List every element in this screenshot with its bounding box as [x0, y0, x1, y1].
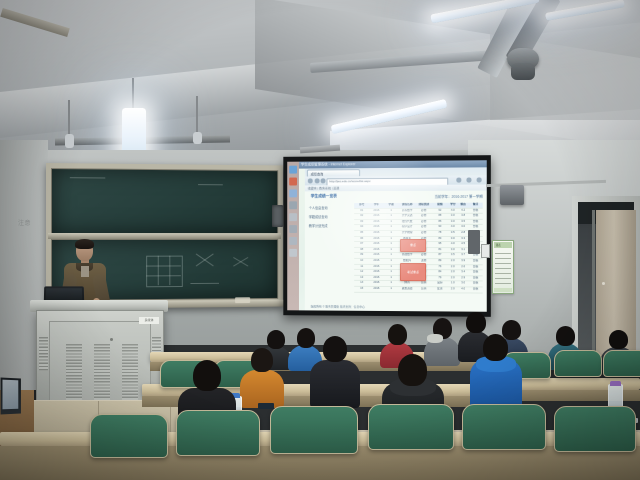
fan-motor — [511, 63, 535, 80]
table-cell: 4.5 — [458, 242, 468, 247]
dock-icon-settings[interactable] — [289, 201, 297, 209]
dock-icon-browser[interactable] — [289, 166, 297, 174]
column-header: 备注 — [468, 203, 482, 208]
student-torso — [310, 360, 360, 408]
poster-header: 课表 — [494, 242, 512, 248]
student-head — [251, 348, 273, 372]
student-head — [323, 336, 347, 362]
student-head — [193, 360, 221, 391]
student-hood — [427, 334, 443, 343]
table-cell: 3.5 — [458, 220, 468, 225]
projected-desktop: 学生成绩管理系统 - Internet Explorer 成绩查询 http:/… — [287, 160, 487, 312]
dock-icon-files[interactable] — [289, 213, 297, 221]
search-icon[interactable] — [456, 178, 461, 183]
side-monitor-screen — [2, 380, 18, 410]
table-cell: 合格 — [468, 282, 482, 287]
pendant-lamp-icon — [193, 132, 202, 144]
ceiling-fan — [415, 8, 630, 103]
pendant-rod — [68, 100, 70, 136]
chair[interactable] — [176, 410, 260, 456]
chair[interactable] — [90, 414, 168, 458]
column-header: 绩点 — [458, 203, 468, 208]
phone-on-desk[interactable] — [258, 403, 274, 409]
chair[interactable] — [368, 404, 454, 450]
student-head — [267, 330, 285, 349]
table-cell: 合格 — [468, 259, 482, 264]
pendant-lamp-right — [190, 96, 204, 146]
lectern-side-vent-left — [39, 337, 48, 371]
student-head — [398, 354, 427, 386]
taskbar-dock[interactable] — [287, 162, 299, 311]
dock-icon-misc[interactable] — [289, 249, 297, 257]
table-cell: 合格 — [468, 287, 482, 292]
pendant-lamp-icon — [65, 134, 74, 148]
dock-icon-media[interactable] — [289, 225, 297, 233]
projection-screen: 学生成绩管理系统 - Internet Explorer 成绩查询 http:/… — [283, 155, 491, 317]
table-cell: 3.9 — [458, 259, 468, 264]
screen-glare — [307, 160, 456, 291]
student-blue-hoodie-right — [470, 334, 522, 408]
student-orange-jacket — [240, 348, 284, 406]
table-cell: 2.6 — [458, 265, 468, 270]
pendant-rod — [196, 96, 198, 134]
table-cell: 4.0 — [458, 225, 468, 230]
door-knob-icon[interactable] — [602, 282, 605, 285]
laptop-screen — [46, 288, 82, 300]
light-switch-plate[interactable] — [481, 244, 490, 258]
wall-marking: 注意 — [18, 218, 31, 227]
side-monitor[interactable] — [1, 378, 21, 415]
chair[interactable] — [554, 406, 636, 452]
pendant-lamp-left — [62, 100, 76, 150]
blackboard-eraser[interactable] — [235, 297, 250, 303]
table-cell: 合格 — [468, 265, 482, 270]
student-head — [609, 330, 628, 349]
table-cell: 2.9 — [458, 276, 468, 281]
lecturer-shirt — [81, 266, 89, 277]
door-edge — [592, 210, 595, 360]
table-cell: 3.0 — [458, 282, 468, 287]
dock-icon-folder[interactable] — [289, 189, 297, 197]
lectern-label: 多媒体 — [139, 317, 159, 324]
table-cell: 合格 — [468, 276, 482, 281]
chair[interactable] — [603, 350, 640, 377]
wall-poster-schedule: 课表 — [492, 240, 514, 294]
classroom-photo: 注意 — [0, 0, 640, 480]
page-footer: 版权所有 © 教务管理处 技术支持：信息中心 — [311, 304, 365, 308]
table-cell: 3.3 — [458, 237, 468, 242]
wall-speaker-right — [468, 230, 480, 254]
wall-speaker-left — [272, 205, 283, 227]
table-cell: 合格 — [468, 208, 482, 213]
student-head — [483, 334, 508, 361]
star-icon[interactable] — [466, 178, 471, 183]
table-cell: 3.8 — [458, 214, 468, 219]
student-head — [556, 326, 575, 346]
table-cell: 4.2 — [458, 208, 468, 213]
chair[interactable] — [270, 406, 358, 454]
dock-icon-mail[interactable] — [289, 237, 297, 245]
dock-icon-app[interactable] — [289, 178, 297, 186]
poster-title: 课表 — [496, 243, 501, 247]
table-cell: 2.8 — [458, 231, 468, 236]
bottle-cap — [610, 381, 621, 386]
table-cell: 3.4 — [458, 270, 468, 275]
table-cell: 合格 — [468, 220, 482, 225]
student-dark-hoodie-center — [310, 336, 360, 406]
table-cell: 3.7 — [458, 253, 468, 258]
wall-mounted-equipment-box — [500, 185, 524, 205]
chair[interactable] — [462, 404, 546, 450]
table-cell: 4.0 — [458, 287, 468, 292]
chair[interactable] — [554, 350, 602, 377]
menu-icon[interactable] — [477, 178, 482, 183]
blackboard-panel-top — [51, 168, 278, 234]
pendant-rod — [132, 78, 134, 108]
lectern-lock-icon[interactable] — [110, 338, 113, 341]
table-cell: 合格 — [468, 214, 482, 219]
table-cell: 3.1 — [458, 248, 468, 253]
table-cell: 合格 — [468, 270, 482, 275]
poster-footer — [494, 288, 512, 292]
student-head — [466, 312, 486, 333]
student-head — [388, 324, 407, 345]
lecturer-hair — [75, 239, 94, 249]
